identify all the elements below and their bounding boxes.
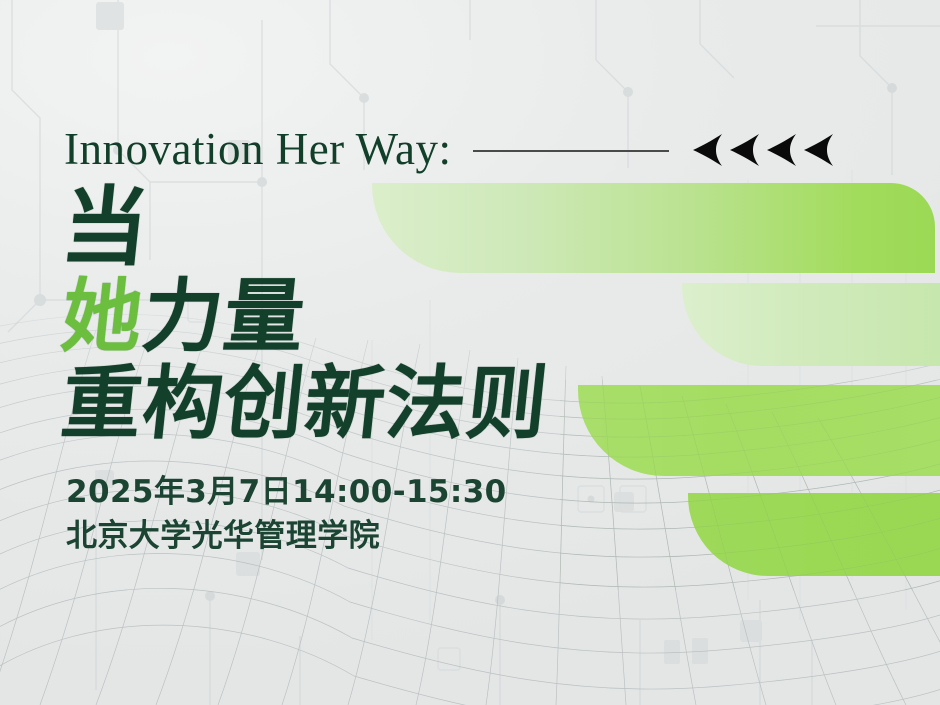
arrow-left-icon-group [691,132,836,168]
event-datetime: 2025年3月7日14:00-15:30 [66,470,507,514]
headline-line-2: 她力量 [58,278,766,356]
headline-line-2-rest: 力量 [138,270,310,363]
arrow-left-icon [802,132,836,168]
eyebrow-title: Innovation Her Way: [64,127,451,172]
headline-line-3: 重构创新法则 [58,365,766,443]
event-poster: Innovation Her Way: 当 她力量 重构创新法则 [0,0,940,705]
headline-line-1: 当 [58,186,767,270]
event-meta: 2025年3月7日14:00-15:30 北京大学光华管理学院 [66,470,507,558]
arrow-left-icon [691,132,725,168]
poster-content: Innovation Her Way: 当 她力量 重构创新法则 [0,0,940,705]
arrow-left-icon [728,132,762,168]
eyebrow-row: Innovation Her Way: [64,118,924,180]
arrow-left-icon [765,132,799,168]
headline: 当 她力量 重构创新法则 [62,186,762,443]
headline-accent-word: 她 [57,270,148,363]
event-venue: 北京大学光华管理学院 [66,514,507,558]
horizontal-rule [473,150,669,152]
